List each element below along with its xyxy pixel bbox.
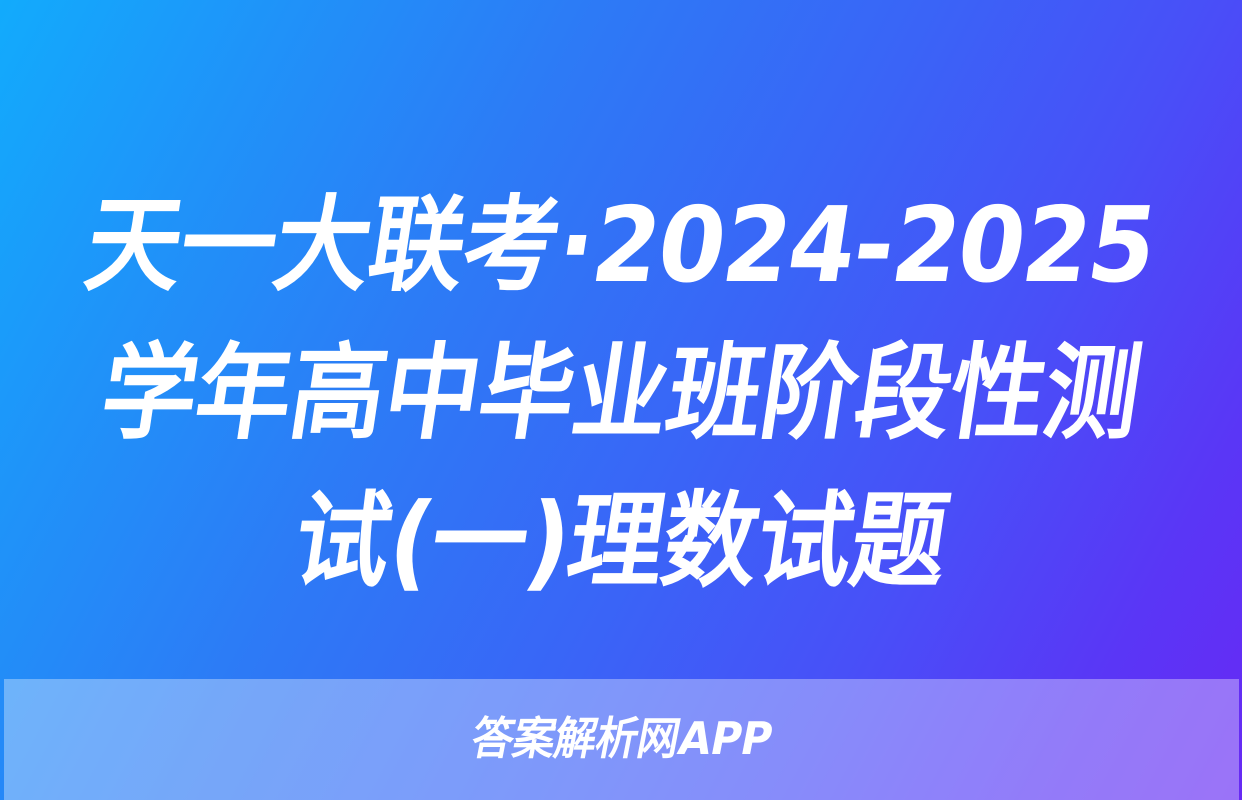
title-line-1: 天一大联考·2024-2025 (73, 171, 1169, 319)
app-watermark-label: 答案解析网APP (467, 714, 776, 764)
title-line-3: 试(一)理数试题 (73, 467, 1169, 615)
page-title: 天一大联考·2024-2025 学年高中毕业班阶段性测 试(一)理数试题 (0, 171, 1242, 615)
footer-band: 答案解析网APP (4, 679, 1239, 800)
exam-title-card: 天一大联考·2024-2025 学年高中毕业班阶段性测 试(一)理数试题 答案解… (0, 0, 1242, 800)
title-line-2: 学年高中毕业班阶段性测 (73, 319, 1169, 467)
